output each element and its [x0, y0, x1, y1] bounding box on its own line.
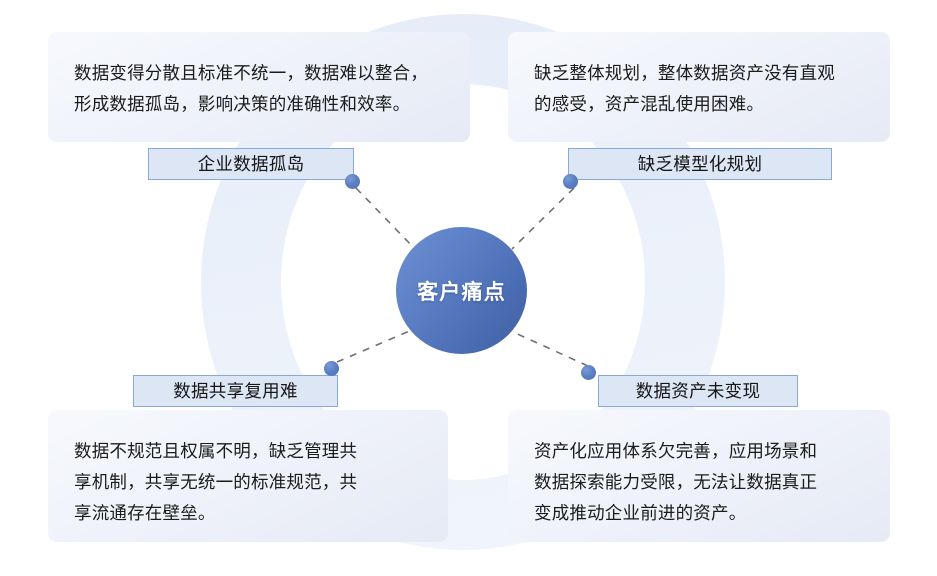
diagram-canvas: 数据变得分散且标准不统一，数据难以整合， 形成数据孤岛，影响决策的准确性和效率。… [0, 0, 937, 576]
description-line: 形成数据孤岛，影响决策的准确性和效率。 [74, 89, 444, 120]
description-line: 享机制，共享无统一的标准规范，共 [74, 467, 422, 498]
node-chip-label: 缺乏模型化规划 [638, 154, 763, 174]
description-line: 数据不规范且权属不明，缺乏管理共 [74, 436, 422, 467]
description-line: 变成推动企业前进的资产。 [534, 498, 864, 529]
node-chip-bottom-left[interactable]: 数据共享复用难 [133, 375, 338, 407]
node-chip-top-right[interactable]: 缺乏模型化规划 [568, 148, 832, 180]
description-panel-bottom-left: 数据不规范且权属不明，缺乏管理共 享机制，共享无统一的标准规范，共 享流通存在壁… [48, 410, 448, 542]
connector-line-top-right [512, 188, 574, 249]
description-line: 资产化应用体系欠完善，应用场景和 [534, 436, 864, 467]
description-panel-top-left: 数据变得分散且标准不统一，数据难以整合， 形成数据孤岛，影响决策的准确性和效率。 [48, 32, 470, 142]
node-chip-bottom-right[interactable]: 数据资产未变现 [598, 375, 798, 407]
connector-line-top-left [356, 188, 415, 249]
description-line: 数据变得分散且标准不统一，数据难以整合， [74, 58, 444, 89]
node-chip-label: 数据共享复用难 [173, 381, 298, 401]
connector-line-bottom-right [513, 332, 588, 366]
connector-dot-top-left [345, 174, 360, 189]
connector-dot-top-right [563, 174, 578, 189]
center-hub-label: 客户痛点 [417, 276, 506, 306]
connector-dot-bottom-right [581, 365, 596, 380]
description-line: 数据探索能力受限，无法让数据真正 [534, 467, 864, 498]
description-line: 的感受，资产混乱使用困难。 [534, 89, 864, 120]
connector-line-bottom-left [337, 330, 412, 362]
description-panel-bottom-right: 资产化应用体系欠完善，应用场景和 数据探索能力受限，无法让数据真正 变成推动企业… [508, 410, 890, 542]
node-chip-top-left[interactable]: 企业数据孤岛 [148, 148, 354, 180]
description-panel-top-right: 缺乏整体规划，整体数据资产没有直观 的感受，资产混乱使用困难。 [508, 32, 890, 142]
node-chip-label: 企业数据孤岛 [198, 154, 305, 174]
node-chip-label: 数据资产未变现 [636, 381, 761, 401]
center-hub-circle[interactable]: 客户痛点 [396, 227, 527, 354]
description-line: 缺乏整体规划，整体数据资产没有直观 [534, 58, 864, 89]
description-line: 享流通存在壁垒。 [74, 498, 422, 529]
connector-dot-bottom-left [324, 361, 339, 376]
